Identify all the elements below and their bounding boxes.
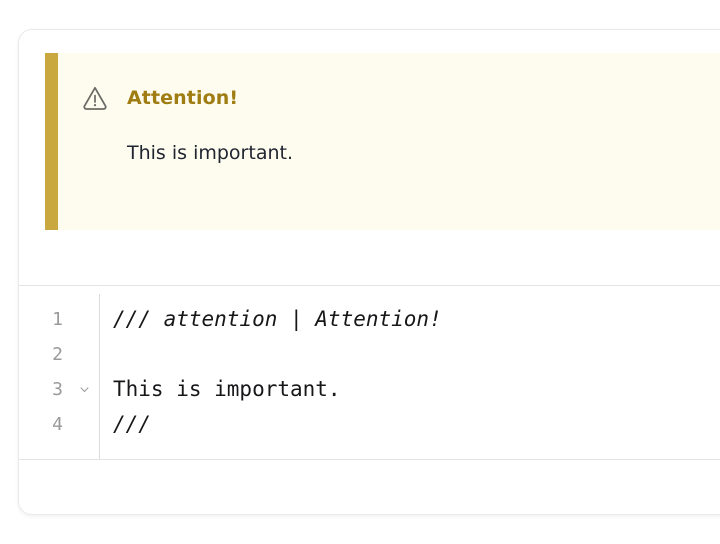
code-line-text: /// attention | Attention! <box>113 302 442 337</box>
admonition-title-row: Attention! <box>81 83 720 113</box>
admonition-text: This is important. <box>127 141 720 166</box>
line-number: 2 <box>19 337 63 372</box>
admonition-title: Attention! <box>127 89 238 108</box>
line-number: 3 <box>19 372 63 407</box>
screen-root: Attention! This is important. 1 /// atte… <box>0 0 720 544</box>
code-line[interactable]: 3 This is important. <box>19 372 720 407</box>
code-line-text: This is important. <box>113 372 341 407</box>
code-line-text: /// <box>113 407 151 442</box>
code-line[interactable]: 2 <box>19 337 720 372</box>
card-footer <box>19 460 720 515</box>
preview-pane: Attention! This is important. <box>19 30 720 286</box>
line-number: 1 <box>19 302 63 337</box>
line-number: 4 <box>19 407 63 442</box>
code-line[interactable]: 1 /// attention | Attention! <box>19 302 720 337</box>
admonition-accent-bar <box>45 53 58 230</box>
code-pane[interactable]: 1 /// attention | Attention! 2 3 This is… <box>19 286 720 460</box>
warning-triangle-icon <box>81 84 109 112</box>
code-line[interactable]: 4 /// <box>19 407 720 442</box>
example-card: Attention! This is important. 1 /// atte… <box>18 29 720 515</box>
code-editor[interactable]: 1 /// attention | Attention! 2 3 This is… <box>19 286 720 459</box>
chevron-down-icon[interactable] <box>77 372 91 407</box>
attention-admonition: Attention! This is important. <box>45 53 720 230</box>
admonition-body: Attention! This is important. <box>58 53 720 230</box>
